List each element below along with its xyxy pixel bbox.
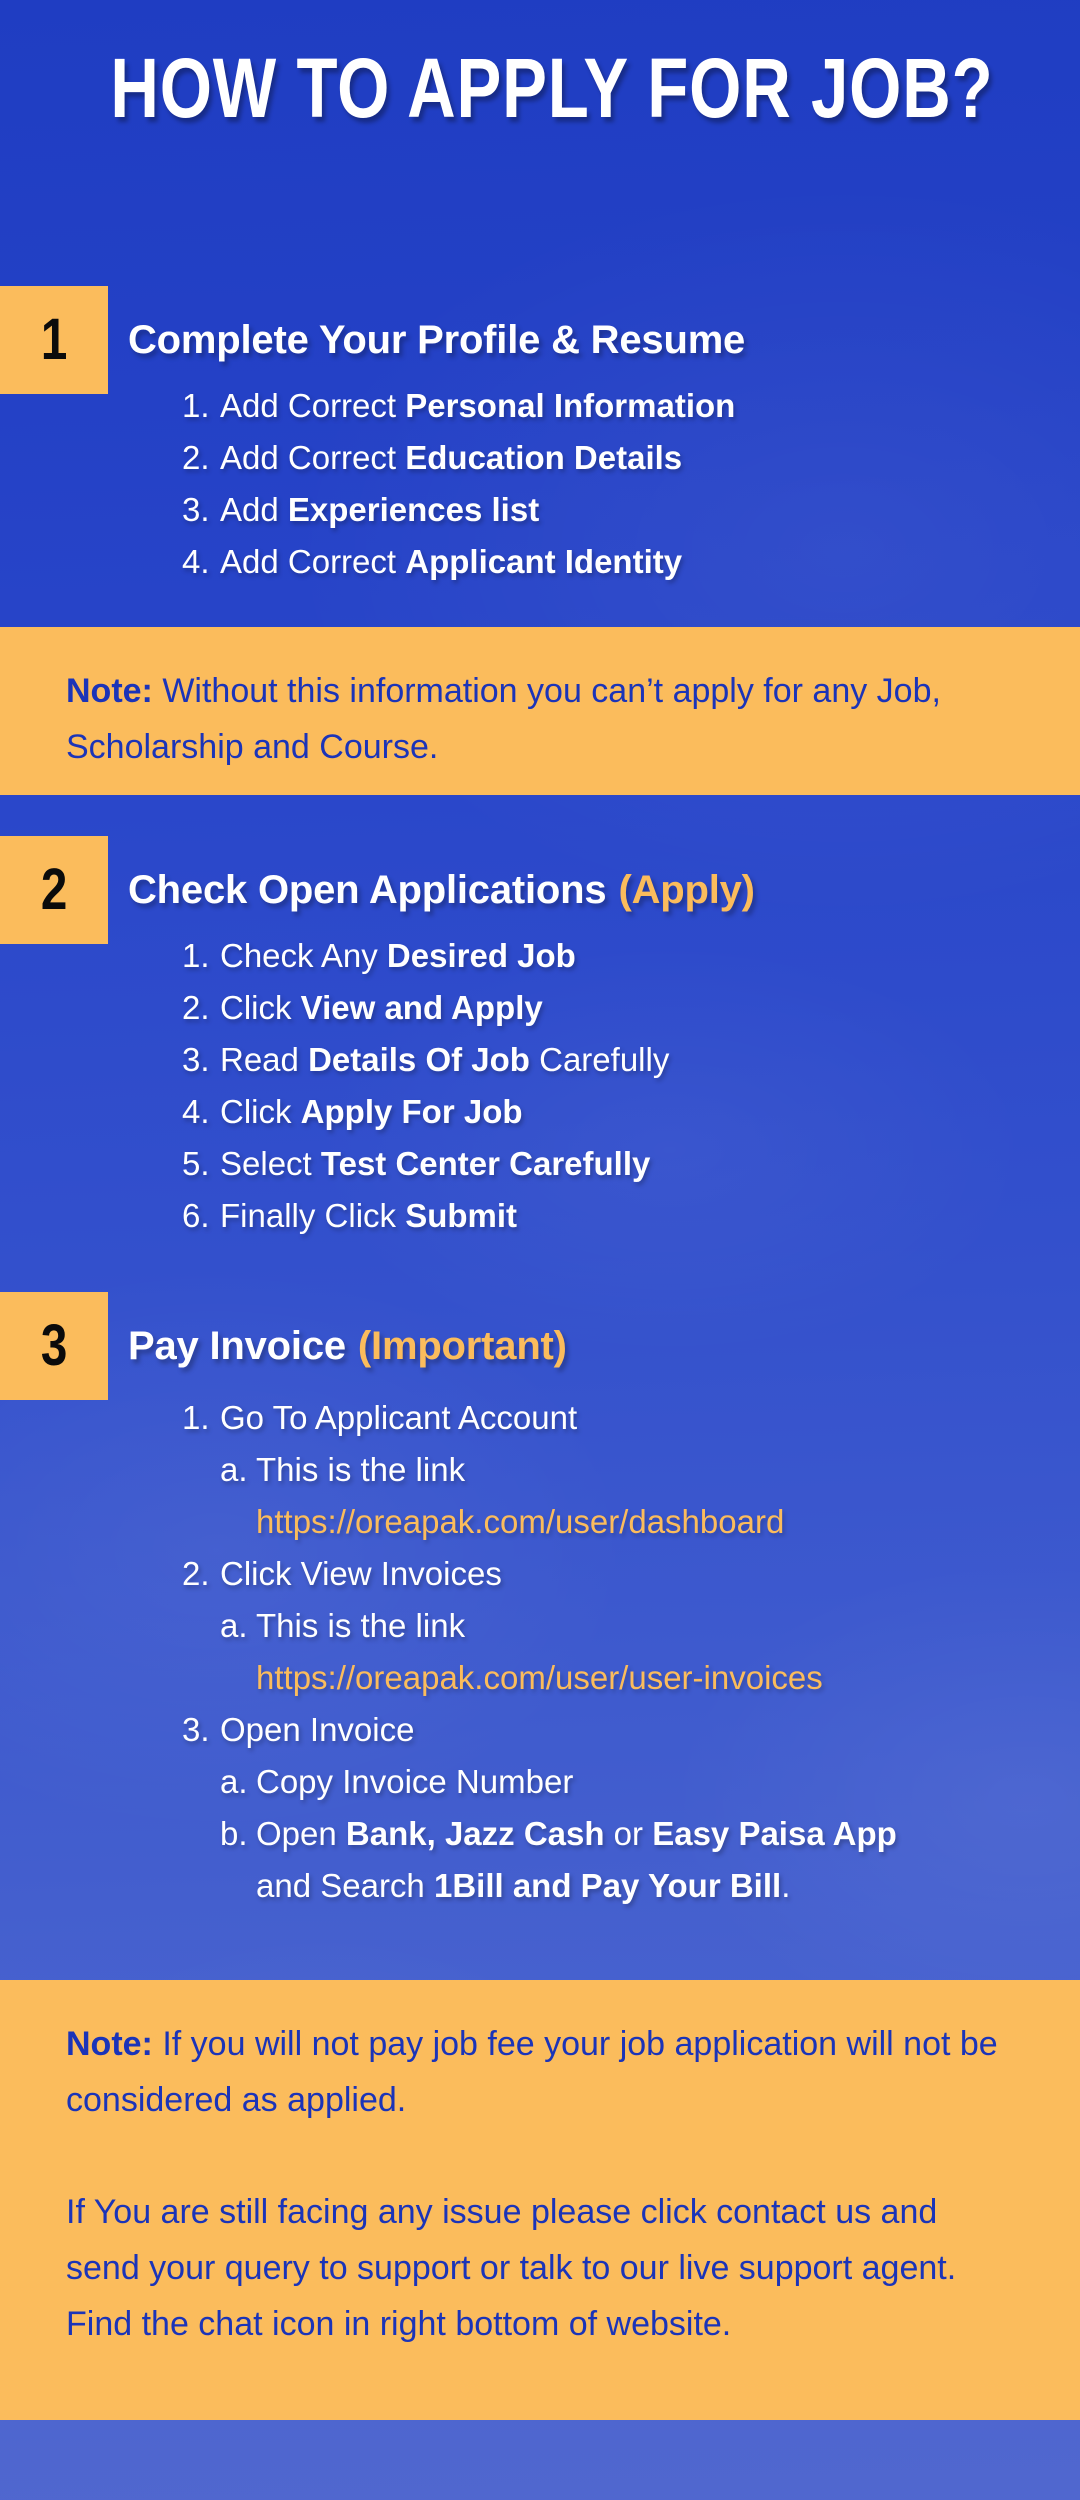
section-title-3-text: Pay Invoice — [128, 1324, 346, 1369]
list-marker: 4. — [182, 536, 220, 588]
list-content: Read Details Of Job Carefully — [220, 1034, 1062, 1086]
list-text-post: Carefully — [530, 1041, 669, 1078]
note-1-label: Note: — [66, 672, 153, 710]
list-text-plain: and Search — [256, 1867, 434, 1904]
section-3-list: 1. Go To Applicant Account a. This is th… — [182, 1392, 1062, 1912]
list-item-continuation: and Search 1Bill and Pay Your Bill. — [220, 1860, 1062, 1912]
list-marker: b. — [220, 1808, 256, 1860]
list-content: Go To Applicant Account — [220, 1392, 1062, 1444]
list-marker: 5. — [182, 1138, 220, 1190]
list-text-plain: Click — [220, 1093, 301, 1130]
section-header-3: 3 Pay Invoice (Important) — [0, 1292, 1080, 1400]
list-text-plain: Add Correct — [220, 439, 405, 476]
list-text-plain: Click — [220, 989, 301, 1026]
list-content: This is the link — [256, 1600, 1062, 1652]
list-text-plain: Add Correct — [220, 387, 405, 424]
section-title-1-text: Complete Your Profile & Resume — [128, 318, 745, 363]
list-content: This is the link — [256, 1444, 1062, 1496]
list-text-post: or — [605, 1815, 653, 1852]
note-2-label: Note: — [66, 2025, 153, 2063]
list-content: Copy Invoice Number — [256, 1756, 1062, 1808]
step-badge-2: 2 — [0, 836, 108, 944]
list-marker: 4. — [182, 1086, 220, 1138]
list-item: 6. Finally Click Submit — [182, 1190, 1062, 1242]
note-2-body: If you will not pay job fee your job app… — [66, 2025, 998, 2119]
list-content: and Search 1Bill and Pay Your Bill. — [256, 1860, 1062, 1912]
list-text-bold2: Easy Paisa App — [652, 1815, 897, 1852]
section-title-2-accent: (Apply) — [618, 868, 754, 913]
note-2-spacer — [66, 2128, 1014, 2184]
list-item: 1. Check Any Desired Job — [182, 930, 1062, 982]
section-1-list: 1. Add Correct Personal Information 2. A… — [182, 380, 1062, 588]
link-user-invoices[interactable]: https://oreapak.com/user/user-invoices — [182, 1652, 1062, 1704]
list-content: Click Apply For Job — [220, 1086, 1062, 1138]
list-marker: a. — [220, 1600, 256, 1652]
step-number-1: 1 — [41, 311, 67, 369]
list-text-bold: Test Center Carefully — [321, 1145, 650, 1182]
step-number-2: 2 — [41, 861, 67, 919]
list-text-post: . — [781, 1867, 790, 1904]
list-text-plain: Check Any — [220, 937, 387, 974]
page-title-container: HOW TO APPLY FOR JOB? — [0, 46, 1080, 132]
list-content: Add Correct Applicant Identity — [220, 536, 1062, 588]
list-marker: 3. — [182, 1704, 220, 1756]
list-text-plain: Open — [256, 1815, 346, 1852]
list-text-plain: Add — [220, 491, 288, 528]
list-text-bold: Applicant Identity — [405, 543, 682, 580]
note-1-body: Without this information you can’t apply… — [66, 672, 941, 766]
list-text-bold: Desired Job — [387, 937, 576, 974]
list-marker: a. — [220, 1756, 256, 1808]
note-block-2: Note: If you will not pay job fee your j… — [0, 1980, 1080, 2420]
list-item-sub: a. This is the link — [220, 1444, 1062, 1496]
link-dashboard[interactable]: https://oreapak.com/user/dashboard — [182, 1496, 1062, 1548]
list-text-bold: Education Details — [405, 439, 682, 476]
list-text-bold: Submit — [405, 1197, 517, 1234]
step-number-3: 3 — [41, 1317, 67, 1375]
list-text-plain: Read — [220, 1041, 308, 1078]
list-item: 2. Click View Invoices — [182, 1548, 1062, 1600]
list-content: Add Correct Education Details — [220, 432, 1062, 484]
section-header-1: 1 Complete Your Profile & Resume — [0, 286, 1080, 394]
list-content: Click View and Apply — [220, 982, 1062, 1034]
list-text-bold: View and Apply — [301, 989, 543, 1026]
list-marker: 3. — [182, 1034, 220, 1086]
list-content: Add Correct Personal Information — [220, 380, 1062, 432]
list-item: 2. Click View and Apply — [182, 982, 1062, 1034]
step-badge-3: 3 — [0, 1292, 108, 1400]
list-item: 1. Go To Applicant Account — [182, 1392, 1062, 1444]
list-item: 1. Add Correct Personal Information — [182, 380, 1062, 432]
step-badge-1: 1 — [0, 286, 108, 394]
list-marker: 1. — [182, 380, 220, 432]
list-text-plain: Add Correct — [220, 543, 405, 580]
section-2-list: 1. Check Any Desired Job 2. Click View a… — [182, 930, 1062, 1242]
section-title-2: Check Open Applications (Apply) — [128, 836, 755, 944]
note-2-paragraph-2: If You are still facing any issue please… — [66, 2184, 1014, 2352]
list-marker: 1. — [182, 930, 220, 982]
list-item-sub: a. Copy Invoice Number — [220, 1756, 1062, 1808]
list-text-bold: 1Bill and Pay Your Bill — [434, 1867, 781, 1904]
list-item: 5. Select Test Center Carefully — [182, 1138, 1062, 1190]
note-2-text: Note: If you will not pay job fee your j… — [0, 1980, 1080, 2382]
list-marker: 1. — [182, 1392, 220, 1444]
section-title-1: Complete Your Profile & Resume — [128, 286, 745, 394]
note-block-1: Note: Without this information you can’t… — [0, 627, 1080, 795]
list-item: 4. Click Apply For Job — [182, 1086, 1062, 1138]
list-marker: 2. — [182, 982, 220, 1034]
list-item: 3. Add Experiences list — [182, 484, 1062, 536]
list-text-bold: Personal Information — [405, 387, 735, 424]
list-item: 4. Add Correct Applicant Identity — [182, 536, 1062, 588]
list-item: 3. Open Invoice — [182, 1704, 1062, 1756]
list-item-sub: a. This is the link — [220, 1600, 1062, 1652]
section-title-2-text: Check Open Applications — [128, 868, 606, 913]
list-content: Open Invoice — [220, 1704, 1062, 1756]
list-item: 2. Add Correct Education Details — [182, 432, 1062, 484]
list-content: Check Any Desired Job — [220, 930, 1062, 982]
list-text-bold: Apply For Job — [301, 1093, 523, 1130]
list-marker: 3. — [182, 484, 220, 536]
list-marker: 2. — [182, 1548, 220, 1600]
infographic-page: HOW TO APPLY FOR JOB? 1 Complete Your Pr… — [0, 0, 1080, 2500]
section-header-2: 2 Check Open Applications (Apply) — [0, 836, 1080, 944]
page-title: HOW TO APPLY FOR JOB? — [110, 46, 993, 132]
list-marker: 2. — [182, 432, 220, 484]
note-1-text: Note: Without this information you can’t… — [0, 627, 1080, 805]
list-item: 3. Read Details Of Job Carefully — [182, 1034, 1062, 1086]
list-text-plain: Finally Click — [220, 1197, 405, 1234]
list-content: Finally Click Submit — [220, 1190, 1062, 1242]
list-content: Select Test Center Carefully — [220, 1138, 1062, 1190]
list-marker: 6. — [182, 1190, 220, 1242]
list-marker: a. — [220, 1444, 256, 1496]
list-content: Click View Invoices — [220, 1548, 1062, 1600]
list-text-bold: Experiences list — [288, 491, 539, 528]
section-title-3-accent: (Important) — [358, 1324, 567, 1369]
list-content: Add Experiences list — [220, 484, 1062, 536]
list-text-bold: Bank, Jazz Cash — [346, 1815, 605, 1852]
list-item-sub: b. Open Bank, Jazz Cash or Easy Paisa Ap… — [220, 1808, 1062, 1860]
list-text-bold: Details Of Job — [308, 1041, 530, 1078]
list-content: Open Bank, Jazz Cash or Easy Paisa App — [256, 1808, 1062, 1860]
section-title-3: Pay Invoice (Important) — [128, 1292, 567, 1400]
list-text-plain: Select — [220, 1145, 321, 1182]
